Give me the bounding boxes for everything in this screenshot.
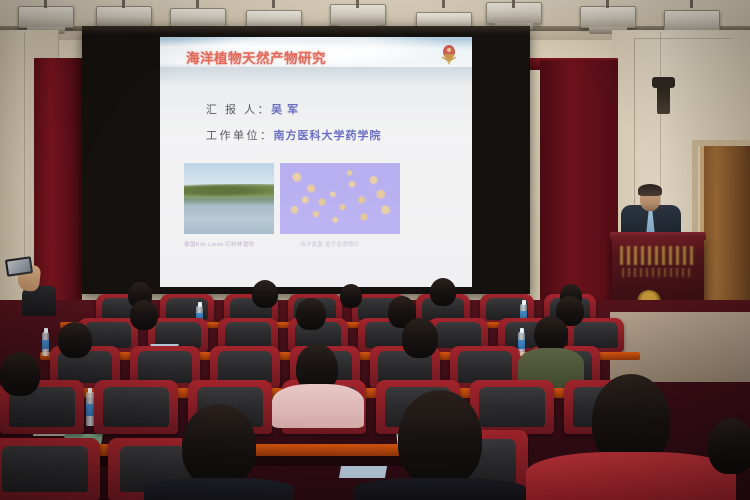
person-shoulders bbox=[354, 478, 526, 500]
lecture-hall-photo: 海洋植物天然产物研究 汇 报 人：吴 军 工作单位：南方医科大学药学院 泰国Ko… bbox=[0, 0, 750, 500]
person-shoulders bbox=[144, 478, 294, 500]
slide-title: 海洋植物天然产物研究 bbox=[186, 47, 326, 67]
bottle-label bbox=[518, 340, 525, 349]
bottle-label bbox=[42, 340, 49, 349]
person-head bbox=[430, 278, 456, 306]
person-head bbox=[398, 390, 482, 486]
lamp-stem bbox=[606, 0, 609, 8]
person-shoulders bbox=[526, 452, 736, 500]
person-head bbox=[252, 280, 278, 308]
affiliation-name: 南方医科大学药学院 bbox=[274, 130, 382, 142]
lamp-stem bbox=[356, 0, 359, 8]
water-bottle[interactable] bbox=[42, 332, 49, 356]
person-head bbox=[402, 318, 438, 358]
person-shoulders bbox=[272, 384, 364, 428]
person-head bbox=[296, 298, 326, 330]
lamp-stem bbox=[44, 0, 47, 8]
ceiling-spotlight bbox=[96, 6, 152, 28]
lamp-stem bbox=[512, 0, 515, 8]
slide-presenter-line: 汇 报 人：吴 军 bbox=[206, 101, 299, 117]
lectern-gold-inscription bbox=[620, 246, 696, 265]
lamp-stem bbox=[196, 0, 199, 8]
seat[interactable] bbox=[94, 380, 178, 434]
person-head bbox=[708, 418, 750, 474]
person-head bbox=[0, 352, 40, 396]
projection-screen: 海洋植物天然产物研究 汇 报 人：吴 军 工作单位：南方医科大学药学院 泰国Ko… bbox=[82, 26, 530, 294]
ceiling-spotlight bbox=[664, 10, 720, 32]
lectern-gold-inscription-lower bbox=[622, 268, 694, 277]
lamp-stem bbox=[442, 0, 445, 8]
lamp-stem bbox=[690, 0, 693, 8]
presenter-hair bbox=[638, 184, 662, 196]
seat[interactable] bbox=[470, 380, 554, 434]
presenter-label: 汇 报 人： bbox=[206, 104, 271, 116]
lamp-stem bbox=[122, 0, 125, 8]
wall-speaker bbox=[657, 86, 670, 114]
mangrove-landscape-photo bbox=[184, 163, 274, 234]
presenter-name: 吴 军 bbox=[271, 104, 299, 116]
micrograph-caption: 海洋真菌 孢子显微照片 bbox=[300, 240, 360, 248]
mangrove-photo-caption: 泰国Koh Lanta 红树林湿地 bbox=[184, 240, 254, 248]
fungal-spore-micrograph bbox=[280, 163, 400, 234]
person-head bbox=[130, 300, 158, 330]
handout-papers[interactable] bbox=[339, 466, 387, 478]
right-aisle bbox=[610, 312, 750, 382]
university-crest-logo bbox=[438, 43, 460, 69]
slide-affiliation-line: 工作单位：南方医科大学药学院 bbox=[206, 127, 382, 143]
lamp-stem bbox=[272, 0, 275, 8]
ceiling-spotlight bbox=[580, 6, 636, 28]
person-head bbox=[182, 404, 256, 486]
ceiling-spotlight bbox=[18, 6, 74, 28]
person-head bbox=[58, 322, 92, 358]
affiliation-label: 工作单位： bbox=[206, 130, 274, 142]
person-head bbox=[534, 316, 568, 352]
seat[interactable] bbox=[0, 438, 100, 500]
presentation-slide: 海洋植物天然产物研究 汇 报 人：吴 军 工作单位：南方医科大学药学院 泰国Ko… bbox=[160, 37, 472, 287]
camera-phone[interactable] bbox=[5, 256, 33, 276]
person-head bbox=[340, 284, 362, 308]
